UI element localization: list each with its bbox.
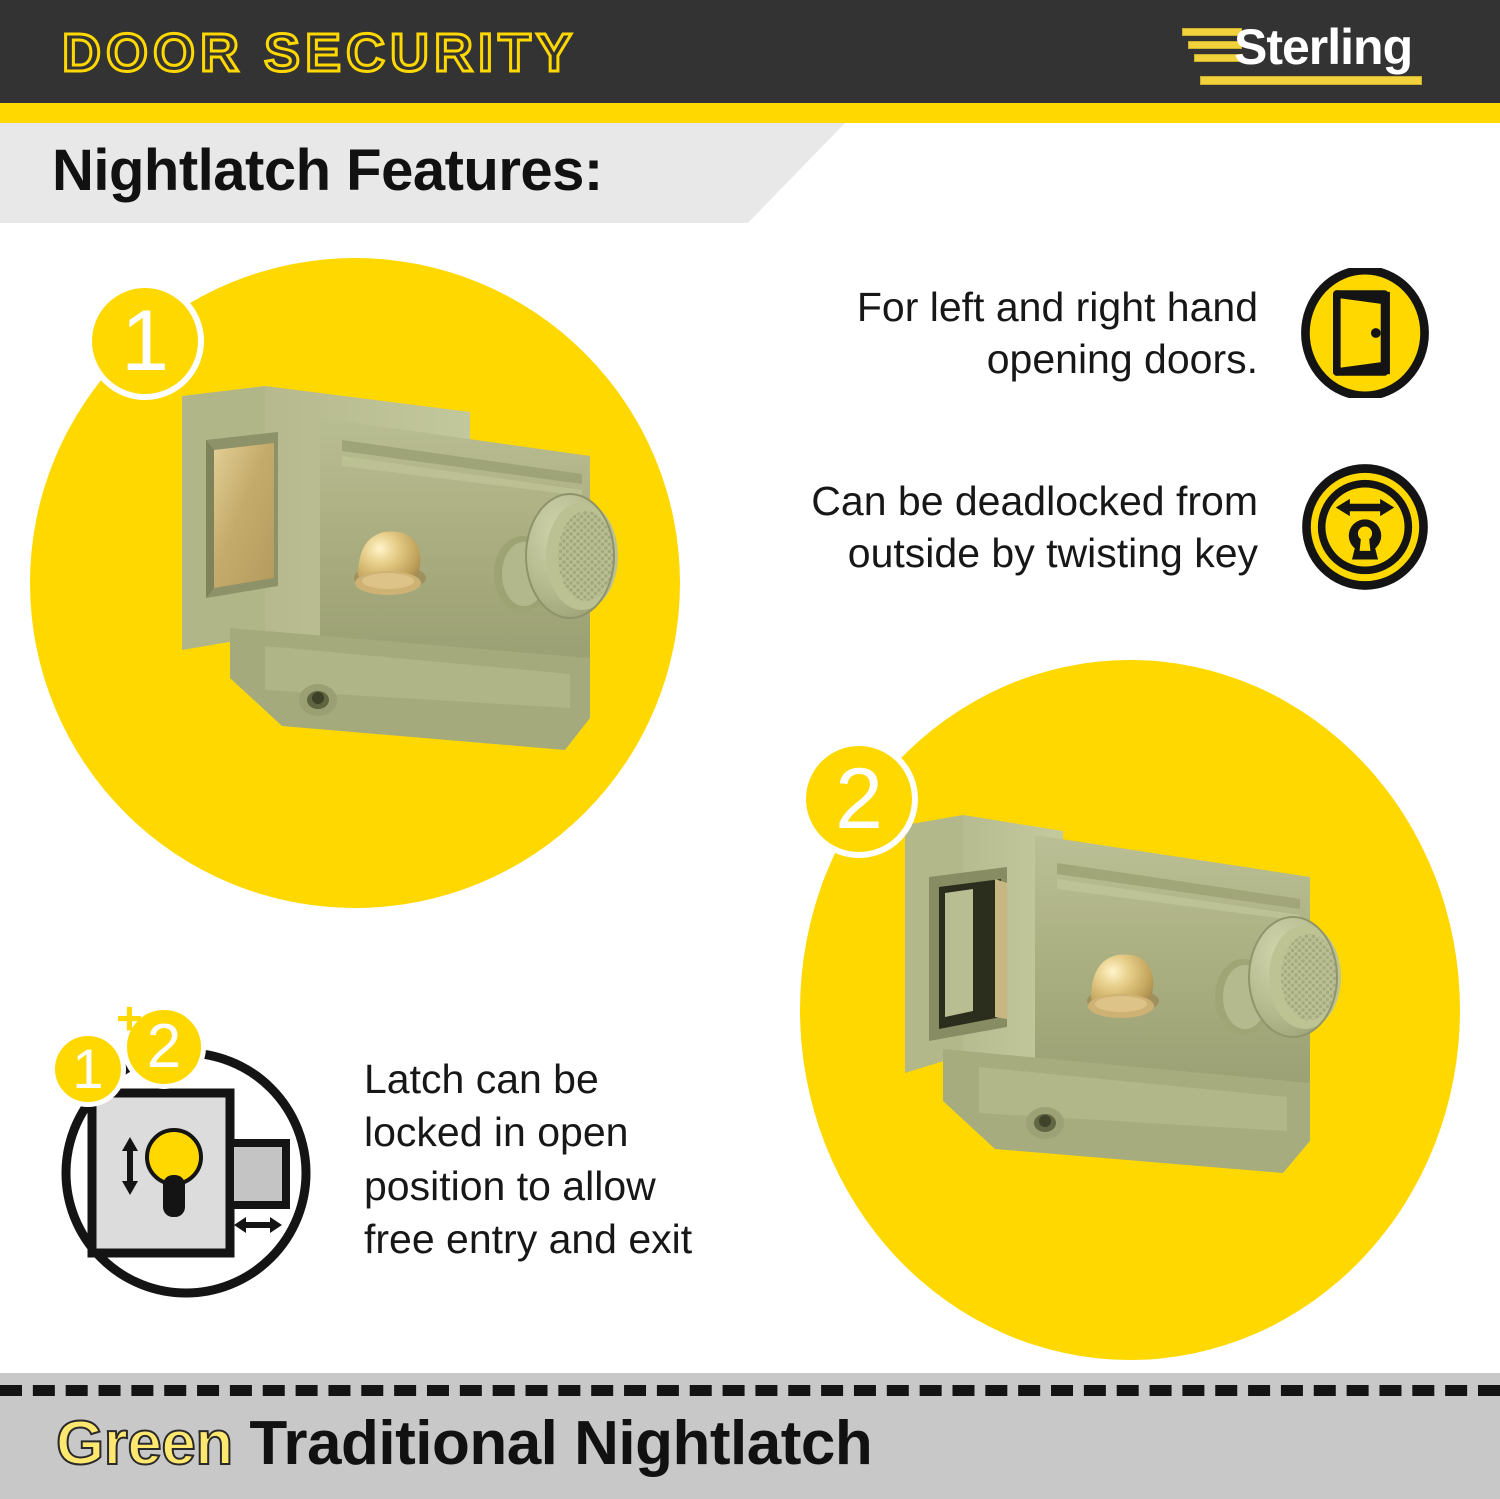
- combo-plus-sign: +: [116, 991, 143, 1045]
- logo-underline: [1200, 76, 1422, 85]
- brand-name: Sterling: [1234, 18, 1412, 76]
- combo-feature-block: + 1 2 Latch can be locked in open positi…: [42, 1005, 782, 1305]
- feature-1-text: For left and right hand opening doors.: [857, 281, 1258, 386]
- header-accent-strip: [0, 103, 1500, 123]
- page-title: DOOR SECURITY: [62, 22, 577, 84]
- section-title: Nightlatch Features:: [52, 137, 603, 204]
- deadlock-keyhole-icon: [1300, 462, 1430, 592]
- infographic-page: DOOR SECURITY Sterling Nightlatch Featur…: [0, 0, 1500, 1499]
- footer-accent-word: Green: [56, 1409, 233, 1478]
- product-photo-nightlatch-2: [895, 805, 1365, 1220]
- feature-row-1: For left and right hand opening doors.: [770, 268, 1430, 398]
- open-door-icon: [1300, 268, 1430, 398]
- footer-main-text: Traditional Nightlatch: [233, 1409, 873, 1478]
- step-badge-1: 1: [86, 282, 204, 400]
- logo-bar-1: [1182, 28, 1242, 36]
- combo-feature-text: Latch can be locked in open position to …: [364, 1053, 784, 1266]
- product-photo-nightlatch-1: [170, 378, 650, 798]
- footer-dashed-divider: [0, 1385, 1500, 1396]
- sterling-logo: Sterling: [1178, 22, 1428, 88]
- feature-2-text: Can be deadlocked from outside by twisti…: [811, 475, 1258, 580]
- feature-row-2: Can be deadlocked from outside by twisti…: [750, 462, 1430, 592]
- combo-badge-1: 1: [50, 1031, 126, 1107]
- step-badge-2: 2: [800, 740, 918, 858]
- footer-product-name: Green Traditional Nightlatch: [56, 1408, 872, 1479]
